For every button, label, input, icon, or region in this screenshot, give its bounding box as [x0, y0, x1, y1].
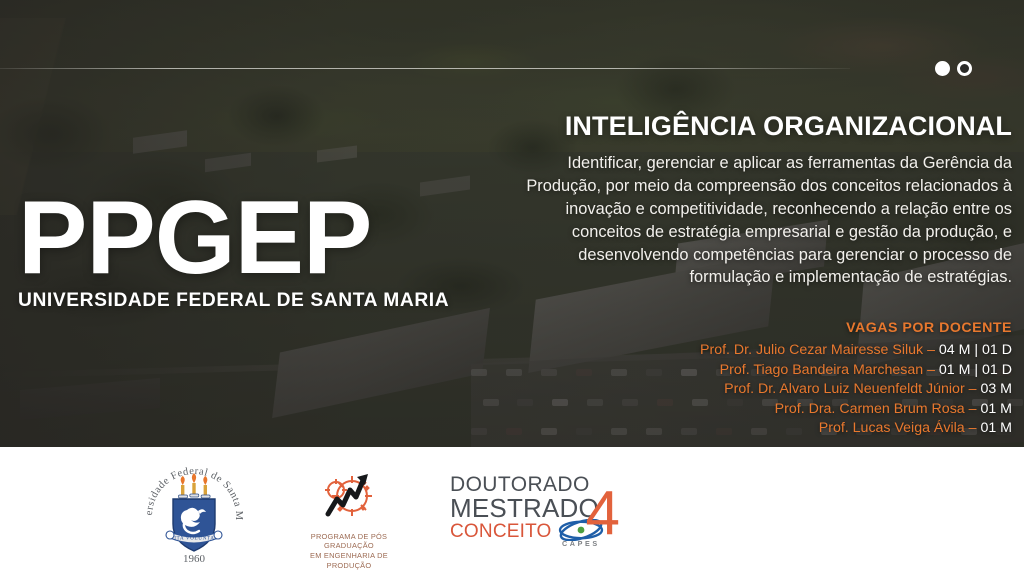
vacancy-row: Prof. Lucas Veiga Ávila – 01 M: [592, 419, 1012, 439]
vacancy-professor: Prof. Dr. Julio Cezar Mairesse Siluk –: [700, 342, 939, 358]
vacancy-slots: 01 M: [980, 420, 1012, 436]
ppgep-caption-line-2: EM ENGENHARIA DE PRODUÇÃO: [290, 551, 408, 571]
carousel-dots[interactable]: [935, 61, 972, 76]
ufsm-seal: Universidade Federal de Santa Maria: [140, 458, 248, 566]
capes-word-doutorado: DOUTORADO: [450, 475, 599, 495]
brand-acronym: PPGEP: [18, 193, 456, 285]
vacancy-slots: 03 M: [980, 381, 1012, 397]
hero-banner: PPGEP UNIVERSIDADE FEDERAL DE SANTA MARI…: [0, 0, 1024, 447]
vacancy-row: Prof. Dr. Julio Cezar Mairesse Siluk – 0…: [592, 341, 1012, 361]
brand-institution: UNIVERSIDADE FEDERAL DE SANTA MARIA: [18, 289, 449, 312]
vacancies-title: VAGAS POR DOCENTE: [592, 320, 1012, 336]
vacancy-slots: 01 M | 01 D: [939, 362, 1012, 378]
gear-chart-icon: [312, 466, 386, 524]
footer-bar: Universidade Federal de Santa Maria: [0, 447, 1024, 576]
vacancies-list: Prof. Dr. Julio Cezar Mairesse Siluk – 0…: [592, 341, 1012, 439]
svg-text:1960: 1960: [183, 553, 206, 565]
ppgep-gear-logo: PROGRAMA DE PÓS GRADUAÇÃO EM ENGENHARIA …: [290, 466, 408, 558]
carousel-dot-2[interactable]: [957, 61, 972, 76]
vacancy-slots: 04 M | 01 D: [939, 342, 1012, 358]
header-divider-rule: [0, 68, 850, 69]
vacancy-row: Prof. Dr. Alvaro Luiz Neuenfeldt Júnior …: [592, 380, 1012, 400]
vacancy-professor: Prof. Tiago Bandeira Marchesan –: [720, 362, 939, 378]
vacancy-slots: 01 M: [980, 401, 1012, 417]
capes-word-mestrado: MESTRADO: [450, 496, 599, 521]
research-line-title: INTELIGÊNCIA ORGANIZACIONAL: [506, 112, 1012, 140]
vacancy-professor: Prof. Dr. Alvaro Luiz Neuenfeldt Júnior …: [724, 381, 980, 397]
research-line-description: Identificar, gerenciar e aplicar as ferr…: [506, 152, 1012, 289]
footer-logos: Universidade Federal de Santa Maria: [140, 447, 622, 576]
promo-slide: PPGEP UNIVERSIDADE FEDERAL DE SANTA MARI…: [0, 0, 1024, 576]
brand-lockup: PPGEP UNIVERSIDADE FEDERAL DE SANTA MARI…: [18, 193, 456, 312]
seal-torches: [179, 473, 211, 498]
svg-text:VITA VOLUNTAS: VITA VOLUNTAS: [170, 535, 218, 541]
vacancy-professor: Prof. Dra. Carmen Brum Rosa –: [775, 401, 981, 417]
ppgep-caption-line-1: PROGRAMA DE PÓS GRADUAÇÃO: [290, 532, 408, 552]
research-line-block: INTELIGÊNCIA ORGANIZACIONAL Identificar,…: [506, 112, 1012, 289]
vacancies-block: VAGAS POR DOCENTE Prof. Dr. Julio Cezar …: [592, 320, 1012, 439]
vacancy-row: Prof. Tiago Bandeira Marchesan – 01 M | …: [592, 361, 1012, 381]
vacancy-row: Prof. Dra. Carmen Brum Rosa – 01 M: [592, 400, 1012, 420]
capes-conceito-logo: DOUTORADO MESTRADO CONCEITO CAPES 4: [450, 469, 622, 555]
carousel-dot-1[interactable]: [935, 61, 950, 76]
capes-grade: 4: [586, 483, 620, 545]
vacancy-professor: Prof. Lucas Veiga Ávila –: [819, 420, 981, 436]
